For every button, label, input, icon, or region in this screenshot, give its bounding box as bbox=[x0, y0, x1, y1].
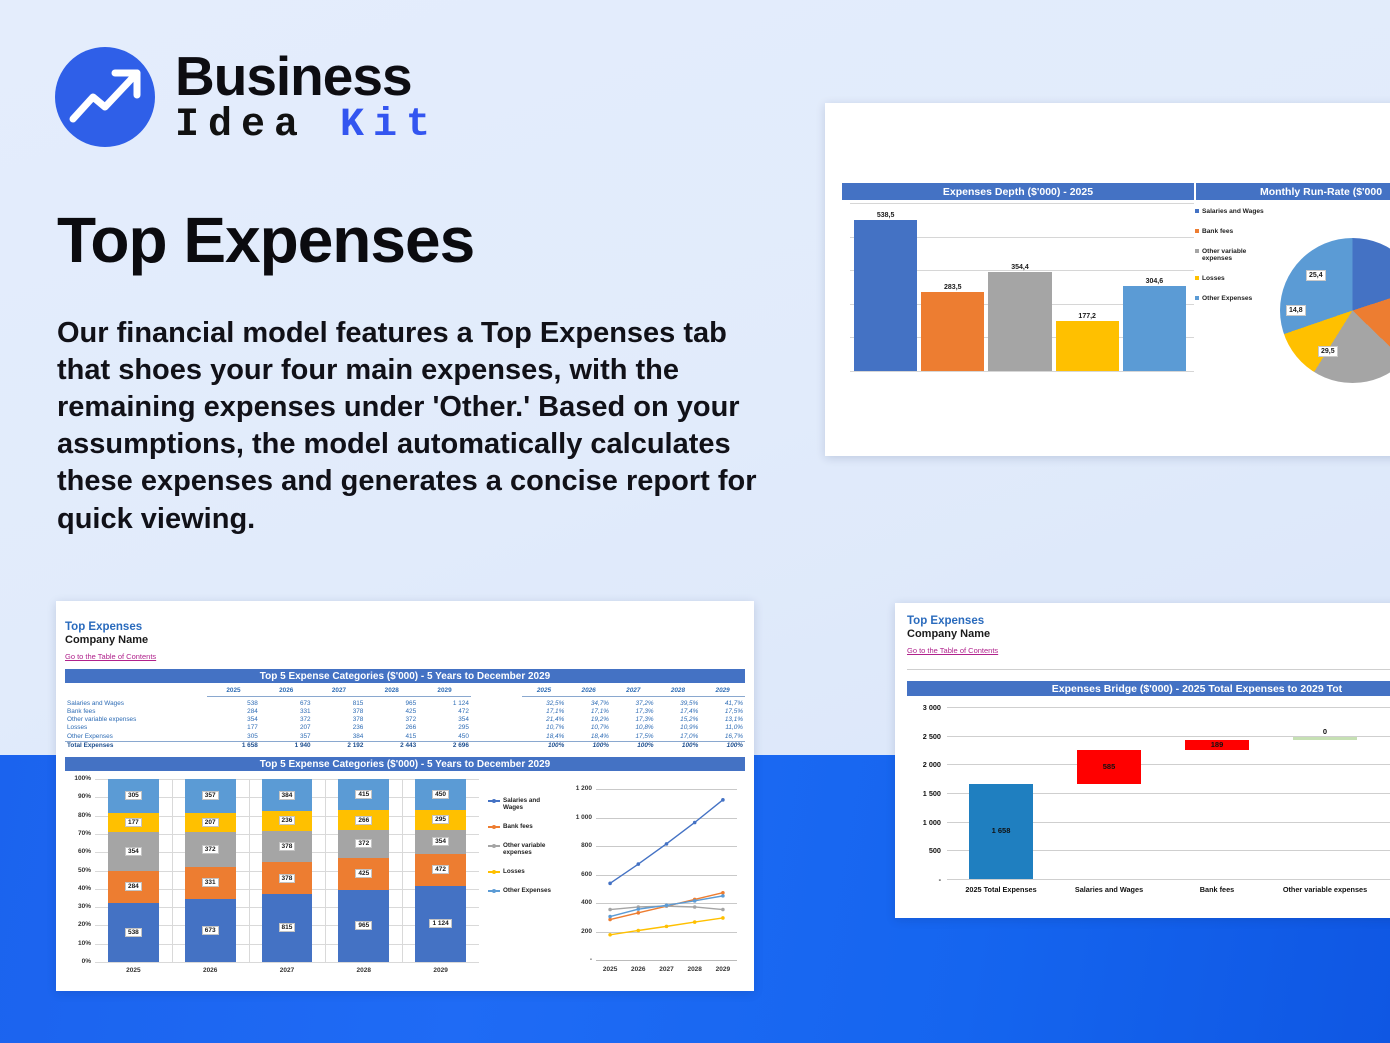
cell-value: 295 bbox=[418, 724, 471, 732]
cell-percent: 17,3% bbox=[611, 708, 656, 716]
segment-value-label: 357 bbox=[202, 791, 219, 800]
data-point bbox=[693, 899, 697, 903]
cell-percent: 100% bbox=[611, 741, 656, 750]
cell-percent: 10,7% bbox=[566, 724, 611, 732]
cell-percent: 10,7% bbox=[522, 724, 567, 732]
stacked-bar-chart: 0%10%20%30%40%50%60%70%80%90%100%5382843… bbox=[65, 775, 485, 980]
legend-item: Losses bbox=[1195, 275, 1275, 282]
table-col-header: 2029 bbox=[700, 687, 745, 697]
bar-value-label: 1 bbox=[1379, 733, 1390, 742]
cell-value: 207 bbox=[260, 724, 313, 732]
cell-percent: 37,2% bbox=[611, 700, 656, 708]
bar-2 bbox=[988, 272, 1051, 371]
line-series bbox=[610, 800, 723, 884]
legend-label: Losses bbox=[1202, 275, 1225, 282]
data-point bbox=[721, 908, 725, 912]
data-point bbox=[608, 882, 612, 886]
data-point bbox=[665, 925, 669, 929]
bar-value-label: 354,4 bbox=[986, 264, 1053, 271]
y-axis-tick: 2 500 bbox=[907, 732, 941, 741]
data-point bbox=[637, 862, 641, 866]
stack-segment: 472 bbox=[415, 854, 466, 886]
table-col-header: 2028 bbox=[656, 687, 701, 697]
stack-segment: 354 bbox=[108, 832, 159, 871]
gridline bbox=[947, 707, 1390, 708]
cell-value: 331 bbox=[260, 708, 313, 716]
table-row: Bank fees28433137842547217,1%17,1%17,3%1… bbox=[65, 708, 745, 716]
row-label: Other Expenses bbox=[65, 733, 207, 742]
segment-value-label: 384 bbox=[279, 791, 296, 800]
gridline bbox=[95, 962, 479, 963]
sheet-company: Company Name bbox=[65, 634, 156, 646]
legend-item: Bank fees bbox=[1195, 228, 1275, 235]
growth-arrow-glyph bbox=[55, 47, 155, 147]
brand-word-idea: Idea bbox=[175, 103, 307, 148]
cell-percent: 17,4% bbox=[656, 708, 701, 716]
sheet-company: Company Name bbox=[907, 628, 998, 640]
pie-value-label: 29,5 bbox=[1318, 346, 1338, 357]
cell-value: 378 bbox=[313, 708, 366, 716]
y-axis-tick: 10% bbox=[65, 940, 91, 947]
table-col-header: 2025 bbox=[207, 687, 260, 697]
line-series-group bbox=[488, 775, 745, 980]
sheet-header-left: Top Expenses Company Name Go to the Tabl… bbox=[65, 621, 156, 664]
data-point bbox=[637, 911, 641, 915]
data-point bbox=[665, 903, 669, 907]
bar-value-label: 283,5 bbox=[919, 284, 986, 291]
segment-value-label: 236 bbox=[279, 816, 296, 825]
cell-percent: 100% bbox=[656, 741, 701, 750]
legend-swatch-icon bbox=[1195, 296, 1199, 300]
cell-value: 1 940 bbox=[260, 741, 313, 750]
chart-title-monthly-run-rate: Monthly Run-Rate ($'000 bbox=[1196, 183, 1390, 200]
stack-segment: 538 bbox=[108, 903, 159, 962]
screenshot-panel-expenses-depth: Expenses Depth ($'000) - 2025 Monthly Ru… bbox=[825, 103, 1390, 456]
data-point bbox=[693, 920, 697, 924]
cell-value: 2 192 bbox=[313, 741, 366, 750]
stack-segment: 305 bbox=[108, 779, 159, 813]
cell-value: 284 bbox=[207, 708, 260, 716]
x-axis-tick: 2026 bbox=[172, 967, 249, 974]
monthly-run-rate-pie-chart: 25,414,829,5 bbox=[1280, 238, 1390, 383]
table-col-header: 2026 bbox=[260, 687, 313, 697]
data-point bbox=[721, 894, 725, 898]
segment-value-label: 815 bbox=[279, 923, 296, 932]
table-row: Other Expenses30535738441545018,4%18,4%1… bbox=[65, 733, 745, 742]
table-row: Other variable expenses35437237837235421… bbox=[65, 716, 745, 724]
data-point bbox=[721, 798, 725, 802]
brand-line-business: Business bbox=[175, 49, 439, 104]
cell-value: 2 696 bbox=[418, 741, 471, 750]
expenses-depth-legend: Salaries and WagesBank feesOther variabl… bbox=[1195, 208, 1275, 315]
segment-value-label: 965 bbox=[355, 921, 372, 930]
table-title-bar: Top 5 Expense Categories ($'000) - 5 Yea… bbox=[65, 669, 745, 683]
stack-segment: 965 bbox=[338, 890, 389, 962]
y-axis-tick: 90% bbox=[65, 793, 91, 800]
x-axis-tick: 2027 bbox=[249, 967, 326, 974]
cell-percent: 17,3% bbox=[611, 716, 656, 724]
table-col-header: 2027 bbox=[611, 687, 656, 697]
x-axis-tick: 2029 bbox=[709, 966, 737, 973]
gridline bbox=[249, 779, 250, 962]
cell-percent: 18,4% bbox=[566, 733, 611, 742]
stack-segment: 415 bbox=[338, 779, 389, 810]
cell-value: 472 bbox=[418, 708, 471, 716]
legend-label: Bank fees bbox=[1202, 228, 1233, 235]
stack-segment: 378 bbox=[262, 862, 313, 894]
gridline bbox=[850, 371, 1194, 372]
brand-line-idea-kit: Idea Kit bbox=[175, 106, 439, 146]
cell-percent: 17,1% bbox=[522, 708, 567, 716]
stack-segment: 673 bbox=[185, 899, 236, 962]
waterfall-bar-zero bbox=[1293, 737, 1358, 740]
data-point bbox=[608, 915, 612, 919]
row-label: Total Expenses bbox=[65, 741, 207, 750]
stack-segment: 372 bbox=[185, 832, 236, 867]
segment-value-label: 378 bbox=[279, 874, 296, 883]
segment-value-label: 331 bbox=[202, 878, 219, 887]
cell-percent: 10,8% bbox=[611, 724, 656, 732]
data-point bbox=[693, 905, 697, 909]
cell-value: 357 bbox=[260, 733, 313, 742]
y-axis-tick: 50% bbox=[65, 867, 91, 874]
bar-value-label: 585 bbox=[1055, 762, 1163, 771]
expenses-depth-bar-chart: 538,5283,5354,4177,2304,6 bbox=[842, 203, 1194, 383]
cell-percent: 13,1% bbox=[700, 716, 745, 724]
x-axis-tick: 2029 bbox=[402, 967, 479, 974]
header-divider bbox=[907, 669, 1390, 670]
data-point bbox=[721, 891, 725, 895]
legend-swatch-icon bbox=[1195, 229, 1199, 233]
legend-item: Other Expenses bbox=[1195, 295, 1275, 302]
segment-value-label: 305 bbox=[125, 791, 142, 800]
page-title: Top Expenses bbox=[57, 203, 474, 277]
stack-segment: 295 bbox=[415, 810, 466, 830]
y-axis-tick: 60% bbox=[65, 848, 91, 855]
stacked-column: 538284354177305 bbox=[108, 779, 159, 962]
y-axis-tick: 80% bbox=[65, 812, 91, 819]
segment-value-label: 295 bbox=[432, 815, 449, 824]
gridline bbox=[172, 779, 173, 962]
chart-title-bar: Top 5 Expense Categories ($'000) - 5 Yea… bbox=[65, 757, 745, 771]
y-axis-tick: 20% bbox=[65, 921, 91, 928]
cell-value: 354 bbox=[207, 716, 260, 724]
table-col-header: 2025 bbox=[522, 687, 567, 697]
legend-label: Other variable expenses bbox=[1202, 248, 1275, 262]
legend-item: Other variable expenses bbox=[1195, 248, 1275, 262]
cell-value: 372 bbox=[260, 716, 313, 724]
cell-value: 177 bbox=[207, 724, 260, 732]
gridline bbox=[947, 764, 1390, 765]
stacked-column: 965425372266415 bbox=[338, 779, 389, 962]
segment-value-label: 266 bbox=[355, 816, 372, 825]
cell-percent: 100% bbox=[566, 741, 611, 750]
stack-segment: 266 bbox=[338, 810, 389, 830]
row-label: Other variable expenses bbox=[65, 716, 207, 724]
cell-percent: 41,7% bbox=[700, 700, 745, 708]
line-chart: Salaries and WagesBank feesOther variabl… bbox=[488, 775, 745, 980]
data-point bbox=[637, 929, 641, 933]
segment-value-label: 425 bbox=[355, 869, 372, 878]
stack-segment: 236 bbox=[262, 811, 313, 831]
bar-0 bbox=[854, 220, 917, 371]
cell-percent: 17,1% bbox=[566, 708, 611, 716]
y-axis-tick: 3 000 bbox=[907, 703, 941, 712]
x-axis-tick: Salaries and Wages bbox=[1049, 885, 1169, 894]
sheet-title: Top Expenses bbox=[65, 621, 156, 633]
pie-value-label: 14,8 bbox=[1286, 305, 1306, 316]
stacked-column: 673331372207357 bbox=[185, 779, 236, 962]
bar-value-label: 1 658 bbox=[947, 826, 1055, 835]
segment-value-label: 177 bbox=[125, 818, 142, 827]
cell-percent: 32,5% bbox=[522, 700, 567, 708]
brand-logo: Business Idea Kit bbox=[55, 47, 439, 147]
segment-value-label: 673 bbox=[202, 926, 219, 935]
x-axis-tick: 2028 bbox=[681, 966, 709, 973]
legend-swatch-icon bbox=[1195, 249, 1199, 253]
cell-value: 965 bbox=[365, 700, 418, 708]
cell-value: 236 bbox=[313, 724, 366, 732]
cell-value: 1 124 bbox=[418, 700, 471, 708]
stacked-column: 1 124472354295450 bbox=[415, 779, 466, 962]
bar-value-label: 189 bbox=[1163, 740, 1271, 749]
bar-3 bbox=[1056, 321, 1119, 371]
cell-value: 354 bbox=[418, 716, 471, 724]
cell-value: 450 bbox=[418, 733, 471, 742]
y-axis-tick: 30% bbox=[65, 903, 91, 910]
cell-percent: 100% bbox=[522, 741, 567, 750]
brand-wordmark: Business Idea Kit bbox=[175, 49, 439, 146]
stack-segment: 815 bbox=[262, 894, 313, 962]
y-axis-tick: 70% bbox=[65, 830, 91, 837]
x-axis-tick: 2028 bbox=[325, 967, 402, 974]
cell-percent: 17,0% bbox=[656, 733, 701, 742]
bar-value-label: 538,5 bbox=[852, 212, 919, 219]
cell-value: 815 bbox=[313, 700, 366, 708]
stack-segment: 425 bbox=[338, 858, 389, 890]
chart-title-expenses-depth: Expenses Depth ($'000) - 2025 bbox=[842, 183, 1194, 200]
x-axis-tick: 2025 bbox=[95, 967, 172, 974]
stack-segment: 1 124 bbox=[415, 886, 466, 962]
gridline bbox=[947, 879, 1390, 880]
screenshot-panel-expenses-bridge: Top Expenses Company Name Go to the Tabl… bbox=[895, 603, 1390, 918]
stack-segment: 284 bbox=[108, 871, 159, 902]
cell-percent: 17,5% bbox=[611, 733, 656, 742]
table-col-header: 2028 bbox=[365, 687, 418, 697]
x-axis-tick: 2025 bbox=[596, 966, 624, 973]
cell-value: 415 bbox=[365, 733, 418, 742]
x-axis-tick: 2025 Total Expenses bbox=[941, 885, 1061, 894]
segment-value-label: 284 bbox=[125, 882, 142, 891]
bar-1 bbox=[921, 292, 984, 371]
x-axis-tick: Los bbox=[1373, 885, 1390, 894]
gridline bbox=[850, 203, 1194, 204]
data-point bbox=[665, 842, 669, 846]
chart-title-expenses-bridge: Expenses Bridge ($'000) - 2025 Total Exp… bbox=[907, 681, 1390, 696]
y-axis-tick: 2 000 bbox=[907, 760, 941, 769]
data-point bbox=[637, 907, 641, 911]
segment-value-label: 354 bbox=[125, 847, 142, 856]
data-point bbox=[721, 916, 725, 920]
screenshot-panel-top-5-expense-categories: Top Expenses Company Name Go to the Tabl… bbox=[56, 601, 754, 991]
table-col-header: 2026 bbox=[566, 687, 611, 697]
x-axis-tick: Other variable expenses bbox=[1265, 885, 1385, 894]
legend-swatch-icon bbox=[1195, 209, 1199, 213]
table-col-header: 2029 bbox=[418, 687, 471, 697]
stack-segment: 378 bbox=[262, 831, 313, 863]
x-axis-tick: Bank fees bbox=[1157, 885, 1277, 894]
segment-value-label: 372 bbox=[355, 839, 372, 848]
cell-percent: 11,0% bbox=[700, 724, 745, 732]
row-label: Bank fees bbox=[65, 708, 207, 716]
segment-value-label: 1 124 bbox=[429, 919, 451, 928]
brand-word-kit: Kit bbox=[340, 103, 439, 148]
segment-value-label: 538 bbox=[125, 928, 142, 937]
cell-percent: 10,9% bbox=[656, 724, 701, 732]
y-axis-tick: 100% bbox=[65, 775, 91, 782]
cell-value: 1 658 bbox=[207, 741, 260, 750]
legend-label: Other Expenses bbox=[1202, 295, 1252, 302]
cell-percent: 39,5% bbox=[656, 700, 701, 708]
cell-percent: 17,5% bbox=[700, 708, 745, 716]
cell-value: 378 bbox=[313, 716, 366, 724]
expense-categories-table: 2025202620272028202920252026202720282029… bbox=[65, 687, 745, 750]
table-col-header: 2027 bbox=[313, 687, 366, 697]
sheet-header-right: Top Expenses Company Name Go to the Tabl… bbox=[907, 615, 998, 658]
legend-swatch-icon bbox=[1195, 276, 1199, 280]
cell-percent: 16,7% bbox=[700, 733, 745, 742]
table-total-row: Total Expenses1 6581 9402 1922 4432 6961… bbox=[65, 741, 745, 750]
row-label: Salaries and Wages bbox=[65, 700, 207, 708]
segment-value-label: 207 bbox=[202, 818, 219, 827]
cell-value: 425 bbox=[365, 708, 418, 716]
cell-value: 538 bbox=[207, 700, 260, 708]
y-axis-tick: 40% bbox=[65, 885, 91, 892]
segment-value-label: 450 bbox=[432, 790, 449, 799]
table-of-contents-link[interactable]: Go to the Table of Contents bbox=[907, 646, 998, 655]
data-point bbox=[608, 908, 612, 912]
stack-segment: 354 bbox=[415, 830, 466, 854]
cell-value: 266 bbox=[365, 724, 418, 732]
stack-segment: 384 bbox=[262, 779, 313, 811]
cell-value: 2 443 bbox=[365, 741, 418, 750]
segment-value-label: 378 bbox=[279, 842, 296, 851]
stack-segment: 207 bbox=[185, 813, 236, 833]
table-of-contents-link[interactable]: Go to the Table of Contents bbox=[65, 652, 156, 661]
y-axis-tick: 500 bbox=[907, 846, 941, 855]
cell-percent: 19,2% bbox=[566, 716, 611, 724]
y-axis-tick: 0% bbox=[65, 958, 91, 965]
pie-value-label: 25,4 bbox=[1306, 270, 1326, 281]
cell-percent: 18,4% bbox=[522, 733, 567, 742]
bar-value-label: 304,6 bbox=[1121, 278, 1188, 285]
bar-4 bbox=[1123, 286, 1186, 371]
cell-value: 673 bbox=[260, 700, 313, 708]
legend-label: Salaries and Wages bbox=[1202, 208, 1264, 215]
x-axis-tick: 2027 bbox=[652, 966, 680, 973]
data-point bbox=[693, 821, 697, 825]
expenses-bridge-waterfall-chart: -5001 0001 5002 0002 5003 0001 6582025 T… bbox=[907, 701, 1390, 901]
page-description: Our financial model features a Top Expen… bbox=[57, 315, 757, 538]
sheet-title: Top Expenses bbox=[907, 615, 998, 627]
cell-percent: 34,7% bbox=[566, 700, 611, 708]
cell-value: 372 bbox=[365, 716, 418, 724]
cell-value: 305 bbox=[207, 733, 260, 742]
stacked-column: 815378378236384 bbox=[262, 779, 313, 962]
table-row: Losses17720723626629510,7%10,7%10,8%10,9… bbox=[65, 724, 745, 732]
data-point bbox=[608, 933, 612, 937]
stack-segment: 372 bbox=[338, 830, 389, 858]
segment-value-label: 415 bbox=[355, 790, 372, 799]
y-axis-tick: 1 500 bbox=[907, 789, 941, 798]
y-axis-tick: - bbox=[907, 875, 941, 884]
cell-percent: 15,2% bbox=[656, 716, 701, 724]
x-axis-tick: 2026 bbox=[624, 966, 652, 973]
bar-value-label: 0 bbox=[1271, 727, 1379, 736]
cell-percent: 21,4% bbox=[522, 716, 567, 724]
gridline bbox=[325, 779, 326, 962]
table-row: Salaries and Wages5386738159651 12432,5%… bbox=[65, 700, 745, 708]
stack-segment: 177 bbox=[108, 813, 159, 833]
stack-segment: 357 bbox=[185, 779, 236, 813]
gridline bbox=[402, 779, 403, 962]
cell-value: 384 bbox=[313, 733, 366, 742]
y-axis-tick: 1 000 bbox=[907, 818, 941, 827]
cell-percent: 100% bbox=[700, 741, 745, 750]
segment-value-label: 372 bbox=[202, 845, 219, 854]
legend-item: Salaries and Wages bbox=[1195, 208, 1275, 215]
stack-segment: 331 bbox=[185, 867, 236, 898]
stack-segment: 450 bbox=[415, 779, 466, 810]
segment-value-label: 354 bbox=[432, 837, 449, 846]
bar-value-label: 177,2 bbox=[1054, 313, 1121, 320]
growth-arrow-icon bbox=[55, 47, 155, 147]
segment-value-label: 472 bbox=[432, 865, 449, 874]
row-label: Losses bbox=[65, 724, 207, 732]
